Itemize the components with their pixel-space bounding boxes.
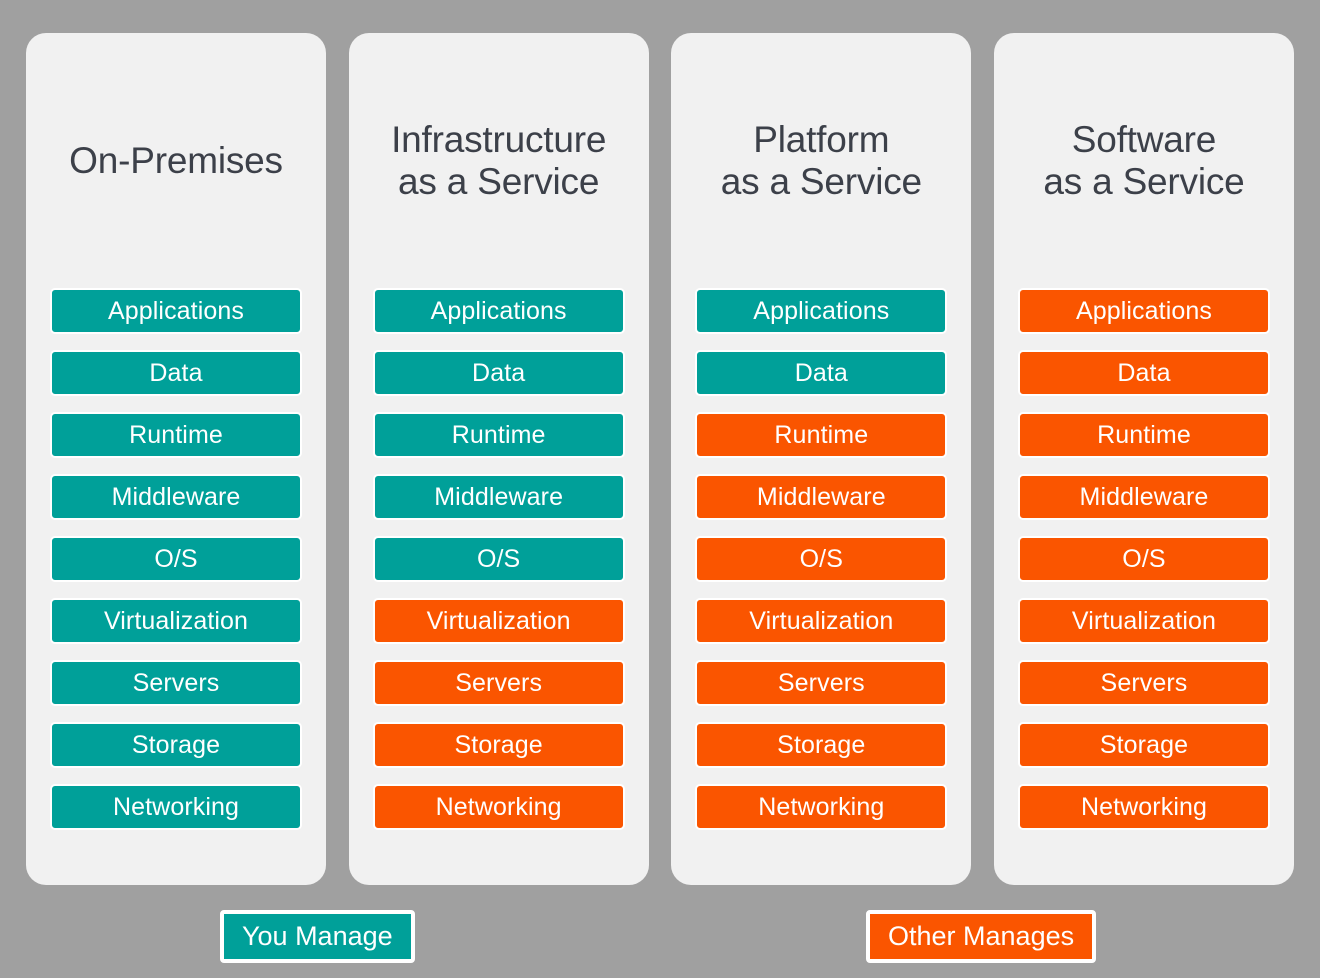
layer-bar-data: Data	[695, 350, 947, 396]
layer-bar-os: O/S	[695, 536, 947, 582]
layer-bar-runtime: Runtime	[50, 412, 302, 458]
legend-other-manages: Other Manages	[866, 910, 1096, 963]
layer-stack-on-premises: Applications Data Runtime Middleware O/S…	[50, 288, 302, 830]
column-infrastructure-as-a-service: Infrastructure as a Service Applications…	[349, 33, 649, 885]
layer-bar-storage: Storage	[373, 722, 625, 768]
layer-bar-networking: Networking	[695, 784, 947, 830]
layer-bar-networking: Networking	[1018, 784, 1270, 830]
layer-bar-middleware: Middleware	[1018, 474, 1270, 520]
layer-bar-virtualization: Virtualization	[1018, 598, 1270, 644]
layer-bar-runtime: Runtime	[1018, 412, 1270, 458]
layer-bar-servers: Servers	[373, 660, 625, 706]
column-title-on-premises: On-Premises	[50, 33, 302, 288]
legend: You Manage Other Manages	[0, 910, 1320, 965]
layer-bar-servers: Servers	[1018, 660, 1270, 706]
layer-bar-networking: Networking	[373, 784, 625, 830]
column-title-infrastructure-as-a-service: Infrastructure as a Service	[373, 33, 625, 288]
column-software-as-a-service: Software as a Service Applications Data …	[994, 33, 1294, 885]
layer-bar-middleware: Middleware	[695, 474, 947, 520]
legend-you-manage: You Manage	[220, 910, 415, 963]
layer-bar-os: O/S	[1018, 536, 1270, 582]
cloud-responsibility-diagram: On-Premises Applications Data Runtime Mi…	[0, 0, 1320, 978]
layer-bar-storage: Storage	[50, 722, 302, 768]
layer-bar-applications: Applications	[695, 288, 947, 334]
layer-bar-storage: Storage	[695, 722, 947, 768]
layer-bar-runtime: Runtime	[695, 412, 947, 458]
layer-bar-data: Data	[50, 350, 302, 396]
layer-stack-platform-as-a-service: Applications Data Runtime Middleware O/S…	[695, 288, 947, 830]
layer-bar-virtualization: Virtualization	[695, 598, 947, 644]
layer-bar-middleware: Middleware	[50, 474, 302, 520]
layer-bar-storage: Storage	[1018, 722, 1270, 768]
layer-bar-os: O/S	[373, 536, 625, 582]
column-platform-as-a-service: Platform as a Service Applications Data …	[671, 33, 971, 885]
layer-bar-middleware: Middleware	[373, 474, 625, 520]
layer-bar-virtualization: Virtualization	[50, 598, 302, 644]
column-title-platform-as-a-service: Platform as a Service	[695, 33, 947, 288]
layer-bar-virtualization: Virtualization	[373, 598, 625, 644]
layer-bar-data: Data	[1018, 350, 1270, 396]
column-on-premises: On-Premises Applications Data Runtime Mi…	[26, 33, 326, 885]
layer-bar-runtime: Runtime	[373, 412, 625, 458]
layer-stack-software-as-a-service: Applications Data Runtime Middleware O/S…	[1018, 288, 1270, 830]
layer-bar-data: Data	[373, 350, 625, 396]
layer-bar-os: O/S	[50, 536, 302, 582]
column-title-software-as-a-service: Software as a Service	[1018, 33, 1270, 288]
layer-bar-servers: Servers	[50, 660, 302, 706]
layer-bar-servers: Servers	[695, 660, 947, 706]
layer-bar-applications: Applications	[1018, 288, 1270, 334]
service-model-columns: On-Premises Applications Data Runtime Mi…	[0, 33, 1320, 885]
layer-bar-networking: Networking	[50, 784, 302, 830]
layer-bar-applications: Applications	[50, 288, 302, 334]
layer-bar-applications: Applications	[373, 288, 625, 334]
layer-stack-infrastructure-as-a-service: Applications Data Runtime Middleware O/S…	[373, 288, 625, 830]
